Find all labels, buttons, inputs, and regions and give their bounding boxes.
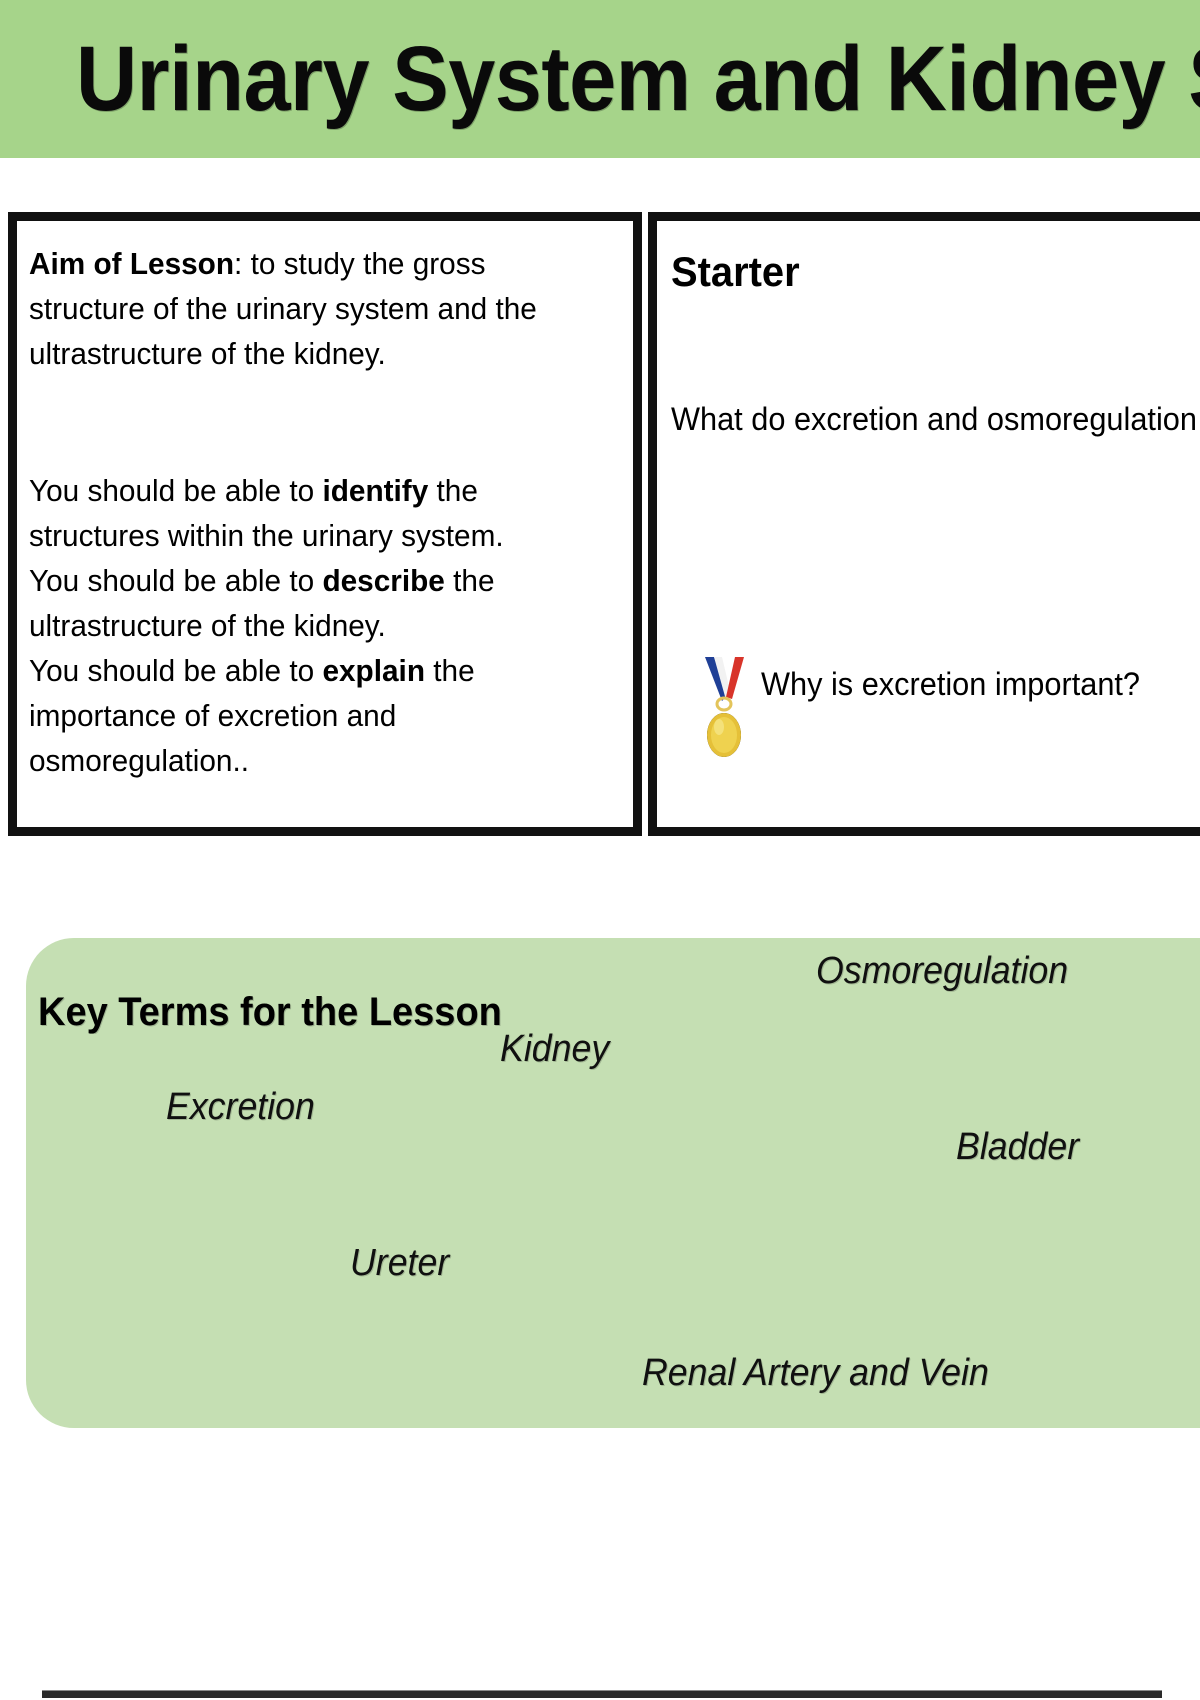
- key-term-excretion: Excretion: [166, 1086, 315, 1128]
- objective-item: You should be able to explain the import…: [29, 648, 603, 783]
- key-term-renal-artery-and-vein: Renal Artery and Vein: [642, 1352, 989, 1394]
- page-title: Urinary System and Kidney Structure: [76, 27, 1200, 131]
- key-terms-panel: Key Terms for the Lesson Osmoregulation …: [26, 938, 1200, 1428]
- key-term-osmoregulation: Osmoregulation: [816, 950, 1068, 992]
- objective-prefix: You should be able to: [29, 563, 322, 598]
- footer-divider: [42, 1690, 1162, 1698]
- aim-of-lesson-box: Aim of Lesson: to study the gross struct…: [8, 212, 642, 836]
- title-banner: Urinary System and Kidney Structure: [0, 0, 1200, 158]
- objective-item: You should be able to describe the ultra…: [29, 558, 603, 648]
- objective-verb: identify: [322, 473, 428, 508]
- slide-canvas: Urinary System and Kidney Structure Aim …: [0, 0, 1200, 1700]
- objective-verb: explain: [322, 653, 425, 688]
- key-terms-heading: Key Terms for the Lesson: [38, 990, 502, 1034]
- aim-statement: Aim of Lesson: to study the gross struct…: [29, 241, 603, 376]
- key-term-kidney: Kidney: [500, 1028, 609, 1070]
- objective-prefix: You should be able to: [29, 473, 322, 508]
- aim-heading-label: Aim of Lesson: [29, 246, 234, 281]
- starter-bullet-text: Why is excretion important?: [761, 665, 1140, 703]
- starter-bullet-item: Why is excretion important?: [701, 645, 1156, 765]
- objective-item: You should be able to identify the struc…: [29, 468, 603, 558]
- objective-verb: describe: [322, 563, 444, 598]
- aim-of-lesson-body: Aim of Lesson: to study the gross struct…: [29, 241, 603, 783]
- objective-prefix: You should be able to: [29, 653, 322, 688]
- aim-spacer: [29, 376, 603, 468]
- starter-question: What do excretion and osmoregulation mea…: [671, 399, 1200, 439]
- key-term-bladder: Bladder: [956, 1126, 1079, 1168]
- starter-title: Starter: [671, 249, 800, 295]
- key-term-ureter: Ureter: [350, 1242, 449, 1284]
- medal-icon: [701, 655, 747, 765]
- starter-box: Starter What do excretion and osmoregula…: [648, 212, 1200, 836]
